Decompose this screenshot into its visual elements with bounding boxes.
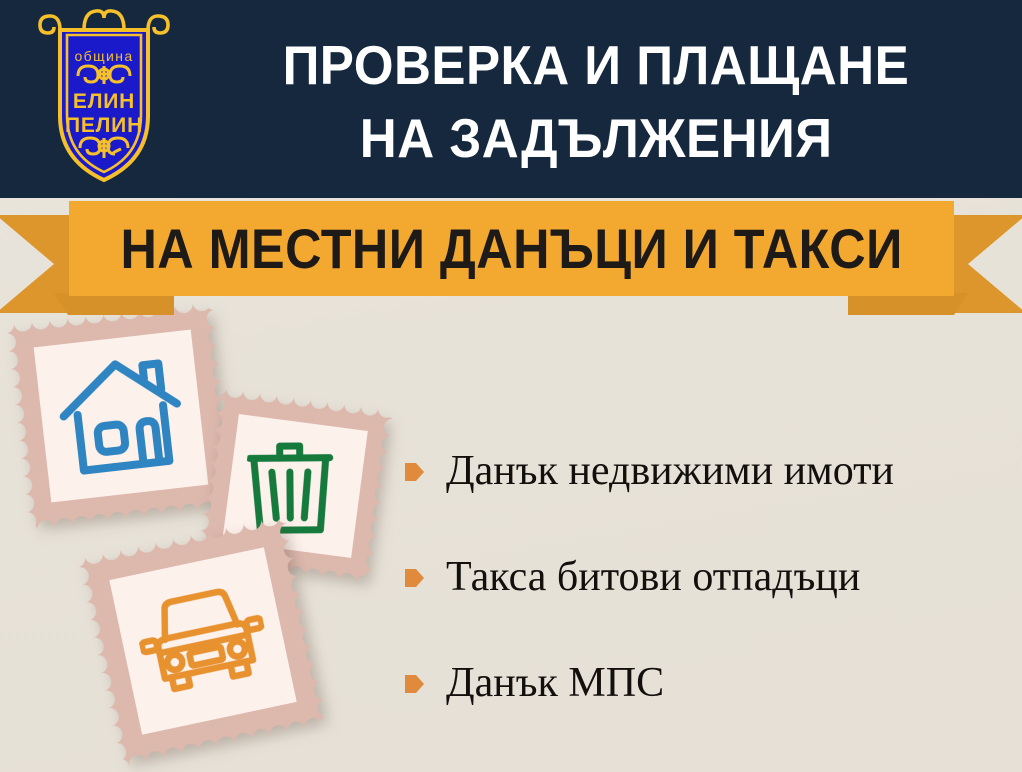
arrow-bullet-icon: [405, 461, 424, 483]
coat-of-arms-icon: община ЕЛИН ПЕЛИН: [34, 8, 174, 190]
list-item-label: Данък МПС: [446, 660, 664, 706]
page-title-line-1: ПРОВЕРКА И ПЛАЩАНЕ: [283, 29, 910, 102]
list-item[interactable]: Такса битови отпадъци: [405, 524, 1015, 630]
ribbon-panel: НА МЕСТНИ ДАНЪЦИ И ТАКСИ: [69, 201, 954, 296]
list-item[interactable]: Данък недвижими имоти: [405, 418, 1015, 524]
ribbon-fold-left: [54, 293, 174, 315]
tax-types-list: Данък недвижими имоти Такса битови отпад…: [405, 418, 1015, 736]
list-item-label: Такса битови отпадъци: [446, 554, 860, 600]
arrow-bullet-icon: [405, 673, 424, 695]
crest-word-bottom: ПЕЛИН: [65, 114, 143, 137]
arrow-bullet-icon: [405, 567, 424, 589]
ribbon-subtitle-text: НА МЕСТНИ ДАНЪЦИ И ТАКСИ: [120, 221, 902, 277]
subtitle-ribbon: НА МЕСТНИ ДАНЪЦИ И ТАКСИ: [0, 196, 1022, 314]
poster-root: община ЕЛИН ПЕЛИН ПРОВЕРКА И ПЛАЩАНЕ НА …: [0, 0, 1022, 772]
page-title: ПРОВЕРКА И ПЛАЩАНЕ НА ЗАДЪЛЖЕНИЯ: [186, 14, 1006, 189]
list-item-label: Данък недвижими имоти: [446, 448, 894, 494]
house-icon: [54, 349, 189, 482]
list-item[interactable]: Данък МПС: [405, 630, 1015, 736]
stamp-card-property: [5, 301, 237, 531]
crest-word-mid: ЕЛИН: [73, 90, 135, 113]
page-title-line-2: НА ЗАДЪЛЖЕНИЯ: [360, 102, 833, 175]
stamp-card-vehicle: [76, 514, 330, 768]
ribbon-fold-right: [848, 293, 968, 315]
crest-word-top: община: [74, 48, 133, 64]
